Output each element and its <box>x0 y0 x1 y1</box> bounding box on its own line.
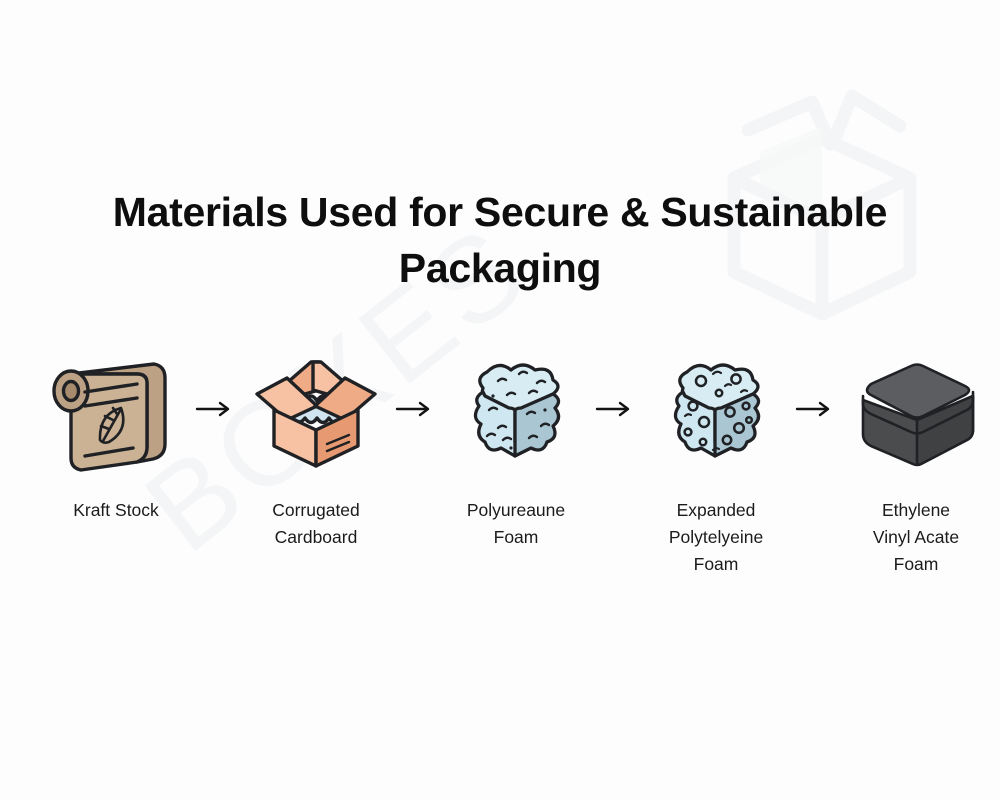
kraft-paper-roll-icon <box>41 348 191 473</box>
flow-arrow-2-icon <box>392 400 440 418</box>
flow-arrow-3-icon <box>592 400 640 418</box>
step-label: Kraft Stock <box>73 497 159 524</box>
flow-step-kraft-stock[interactable]: Kraft Stock <box>40 348 192 524</box>
flow-step-eva-foam[interactable]: Ethylene Vinyl Acate Foam <box>840 348 992 578</box>
foam-block-bubbles-icon <box>641 348 791 473</box>
foam-block-dashes-icon <box>441 348 591 473</box>
step-label: Polyureaune Foam <box>467 497 565 551</box>
materials-flow-row: Kraft Stock <box>40 348 960 578</box>
flow-step-polyurethane-foam[interactable]: Polyureaune Foam <box>440 348 592 551</box>
open-cardboard-box-icon <box>241 348 391 473</box>
page-title: Materials Used for Secure & Sustainable … <box>0 185 1000 296</box>
eva-foam-block-icon <box>841 348 991 473</box>
step-label: Expanded Polytelyeine Foam <box>669 497 763 578</box>
flow-step-expanded-polyethylene-foam[interactable]: Expanded Polytelyeine Foam <box>640 348 792 578</box>
flow-step-corrugated-cardboard[interactable]: Corrugated Cardboard <box>240 348 392 551</box>
flow-arrow-1-icon <box>192 400 240 418</box>
step-label: Corrugated Cardboard <box>272 497 360 551</box>
step-label: Ethylene Vinyl Acate Foam <box>873 497 959 578</box>
flow-arrow-4-icon <box>792 400 840 418</box>
infographic-canvas: BOXES Materials Used for Secure & Sustai… <box>0 0 1000 800</box>
